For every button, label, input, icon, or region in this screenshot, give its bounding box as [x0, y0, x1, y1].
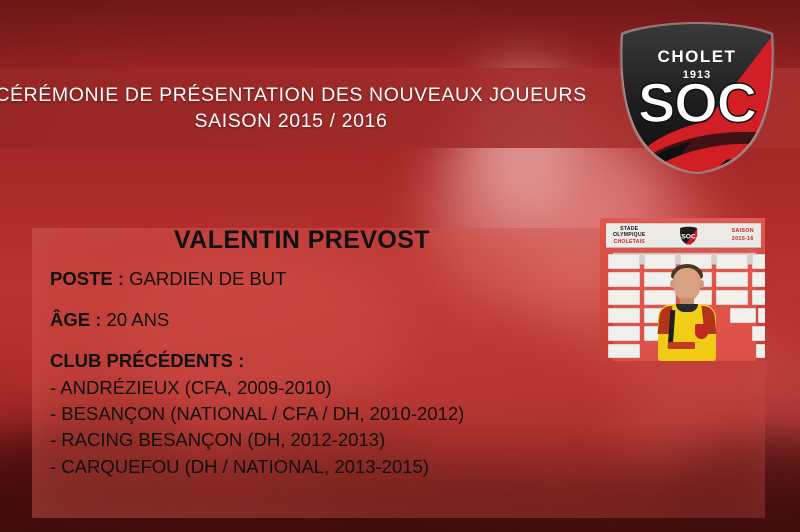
player-name: VALENTIN PREVOST [32, 226, 572, 255]
sponsor-logo [608, 290, 640, 305]
sponsor-logo [608, 254, 640, 269]
previous-club-item: - BESANÇON (NATIONAL / CFA / DH, 2010-20… [50, 401, 610, 427]
sponsor-logo [716, 254, 748, 269]
sponsor-logo [608, 308, 640, 323]
svg-text:SOC: SOC [681, 234, 696, 241]
sponsor-logo [752, 272, 765, 287]
header-title-line1: CÉRÉMONIE DE PRÉSENTATION DES NOUVEAUX J… [0, 82, 587, 108]
photo-banner-crest-icon: SOC [679, 226, 698, 245]
header-title-block: CÉRÉMONIE DE PRÉSENTATION DES NOUVEAUX J… [0, 70, 582, 146]
sponsor-logo [608, 326, 640, 341]
sponsor-logo [608, 344, 640, 358]
photo-banner-line3: CHOLETAIS [613, 239, 645, 246]
sponsor-logo [752, 290, 765, 305]
photo-banner-line2: OLYMPIQUE [613, 232, 645, 239]
photo-backdrop-banner: STADE OLYMPIQUE CHOLETAIS SOC SAISON 201… [606, 223, 761, 248]
player-position-row: POSTE : GARDIEN DE BUT [50, 270, 570, 289]
player-figure [656, 258, 718, 361]
previous-club-item: - CARQUEFOU (DH / NATIONAL, 2013-2015) [50, 454, 610, 480]
sponsor-logo [752, 326, 765, 341]
sponsor-logo [608, 272, 640, 287]
svg-text:CHOLET: CHOLET [658, 47, 737, 66]
player-photo: STADE OLYMPIQUE CHOLETAIS SOC SAISON 201… [600, 218, 765, 361]
player-age-value: 20 ANS [107, 309, 170, 330]
player-info-block: POSTE : GARDIEN DE BUT ÂGE : 20 ANS [50, 270, 570, 351]
player-position-value: GARDIEN DE BUT [129, 268, 286, 289]
sponsor-logo [716, 290, 748, 305]
player-age-row: ÂGE : 20 ANS [50, 311, 570, 330]
header-title-line2: SAISON 2015 / 2016 [195, 108, 388, 134]
soc-club-crest-icon: CHOLET 1913 SOC [614, 22, 780, 174]
player-position-label: POSTE : [50, 268, 124, 289]
player-jersey-sponsor-text [668, 342, 695, 349]
player-ear-right [699, 280, 704, 288]
player-jersey-badge [695, 324, 708, 339]
photo-banner-season-text: SAISON 2015-16 [732, 228, 754, 242]
photo-banner-season-line2: 2015-16 [732, 236, 754, 243]
previous-clubs-block: CLUB PRÉCÉDENTS : - ANDRÉZIEUX (CFA, 200… [50, 350, 610, 480]
sponsor-logo [752, 254, 765, 269]
photo-banner-season-line1: SAISON [732, 228, 754, 235]
presentation-slide: CÉRÉMONIE DE PRÉSENTATION DES NOUVEAUX J… [0, 0, 800, 532]
previous-club-item: - RACING BESANÇON (DH, 2012-2013) [50, 427, 610, 453]
sponsor-logo [756, 344, 765, 358]
player-head [673, 268, 701, 301]
sponsor-logo [716, 272, 748, 287]
svg-text:SOC: SOC [638, 71, 756, 134]
sponsor-logo [758, 308, 765, 323]
previous-club-item: - ANDRÉZIEUX (CFA, 2009-2010) [50, 375, 610, 401]
sponsor-logo [730, 308, 756, 323]
player-age-label: ÂGE : [50, 309, 101, 330]
previous-clubs-title: CLUB PRÉCÉDENTS : [50, 350, 610, 372]
player-ear-left [670, 280, 675, 288]
photo-banner-club-text: STADE OLYMPIQUE CHOLETAIS [613, 226, 645, 246]
